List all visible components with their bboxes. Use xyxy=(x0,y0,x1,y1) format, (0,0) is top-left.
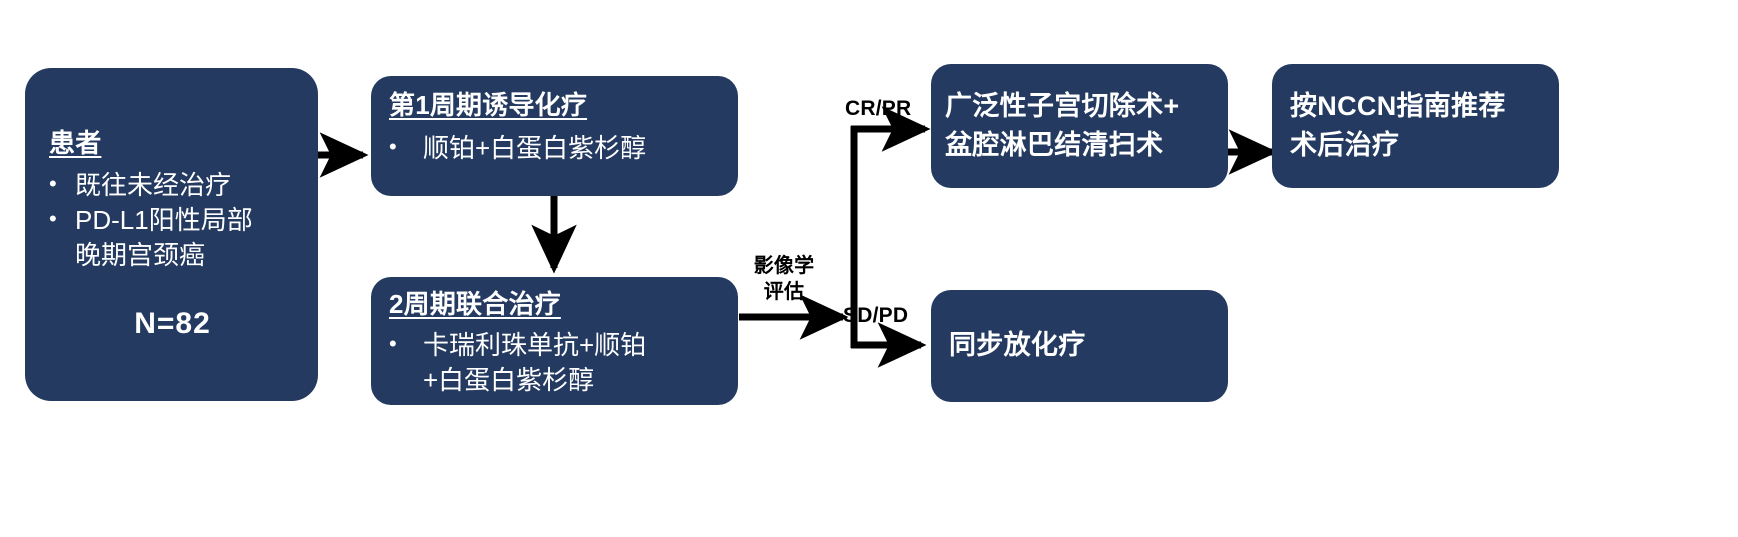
induction-title-text: 第1周期诱导化疗 xyxy=(389,90,587,120)
bullet-dot-icon: • xyxy=(49,203,75,235)
node-patients[interactable]: 患者 • 既往未经治疗 • PD-L1阳性局部 晚期宫颈癌 N=82 xyxy=(25,68,318,401)
patients-title: 患者 xyxy=(49,128,296,159)
node-induction-chemo[interactable]: 第1周期诱导化疗 • 顺铂+白蛋白紫杉醇 xyxy=(371,76,738,196)
node-concurrent-chemoradiotherapy[interactable]: 同步放化疗 xyxy=(931,290,1228,402)
patients-title-text: 患者 xyxy=(49,128,101,158)
patients-bullet-0: • 既往未经治疗 xyxy=(49,168,296,203)
surgery-line1: 广泛性子宫切除术+ xyxy=(945,87,1216,126)
patients-bullet-1-text: PD-L1阳性局部 xyxy=(75,203,296,238)
patients-bullet-1-continuation: 晚期宫颈癌 xyxy=(49,238,296,273)
bullet-dot-icon: • xyxy=(49,168,75,200)
node-radical-surgery[interactable]: 广泛性子宫切除术+ 盆腔淋巴结清扫术 xyxy=(931,64,1228,188)
induction-bullet-text: 顺铂+白蛋白紫杉醇 xyxy=(423,131,722,166)
combination-bullet: • 卡瑞利珠单抗+顺铂 xyxy=(389,328,722,363)
edge-label-imaging-assessment: 影像学 评估 xyxy=(744,253,824,305)
combination-title-text: 2周期联合治疗 xyxy=(389,289,561,319)
induction-title: 第1周期诱导化疗 xyxy=(389,90,722,121)
flowchart-canvas: 患者 • 既往未经治疗 • PD-L1阳性局部 晚期宫颈癌 N=82 第1周期诱… xyxy=(0,0,1738,537)
bullet-dot-icon: • xyxy=(389,131,423,163)
bullet-dot-icon: • xyxy=(389,328,423,360)
node-combination-therapy[interactable]: 2周期联合治疗 • 卡瑞利珠单抗+顺铂 +白蛋白紫杉醇 xyxy=(371,277,738,405)
surgery-line2: 盆腔淋巴结清扫术 xyxy=(945,126,1216,165)
ccrt-line1: 同步放化疗 xyxy=(949,326,1216,365)
combination-bullet-line2: +白蛋白紫杉醇 xyxy=(389,363,722,398)
adjuvant-line2: 术后治疗 xyxy=(1290,126,1547,165)
adjuvant-line1: 按NCCN指南推荐 xyxy=(1290,87,1547,126)
combination-bullet-line1: 卡瑞利珠单抗+顺铂 xyxy=(423,328,722,363)
assessment-line2: 评估 xyxy=(744,279,824,305)
combination-title: 2周期联合治疗 xyxy=(389,289,722,320)
edge-label-sd-pd: SD/PD xyxy=(843,304,908,328)
patients-bullet-0-text: 既往未经治疗 xyxy=(75,168,296,203)
patients-enrollment: N=82 xyxy=(49,307,296,341)
node-nccn-adjuvant-therapy[interactable]: 按NCCN指南推荐 术后治疗 xyxy=(1272,64,1559,188)
patients-bullet-1: • PD-L1阳性局部 xyxy=(49,203,296,238)
edge-label-cr-pr: CR/PR xyxy=(845,97,911,121)
assessment-line1: 影像学 xyxy=(744,253,824,279)
induction-bullet: • 顺铂+白蛋白紫杉醇 xyxy=(389,131,722,166)
